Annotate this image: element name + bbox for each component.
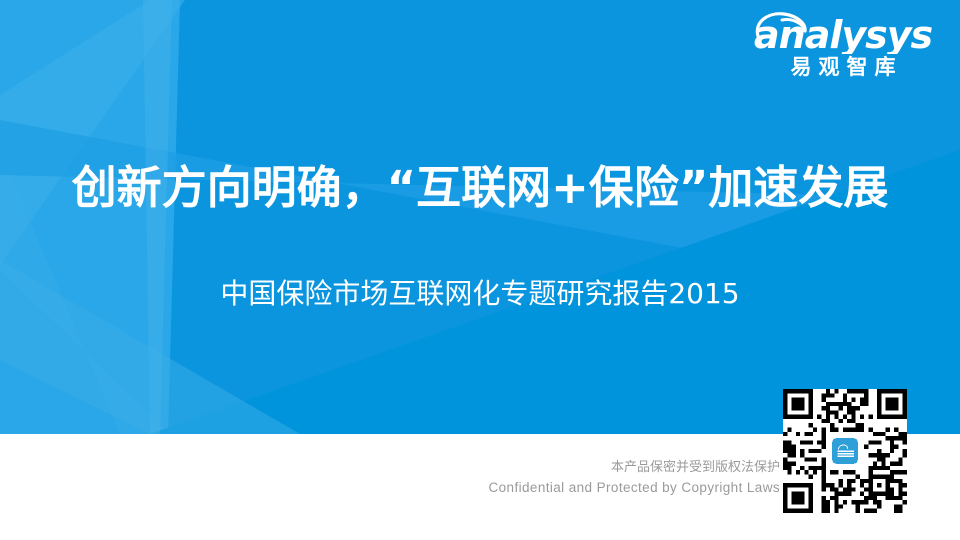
- page-title: 创新方向明确，“互联网+保险”加速发展: [0, 151, 960, 216]
- copyright-chinese: 本产品保密并受到版权法保护: [260, 458, 780, 478]
- blue-banner: analysys 易观智库 创新方向明确，“互联网+保险”加速发展 中国保险市场…: [0, 0, 960, 434]
- page-subtitle: 中国保险市场互联网化专题研究报告2015: [0, 272, 960, 312]
- copyright-english: Confidential and Protected by Copyright …: [260, 478, 780, 499]
- analysys-logo: analysys 易观智库: [748, 8, 938, 78]
- analysys-wordmark-icon: analysys: [748, 8, 938, 54]
- analysys-logo-cn-label: 易观智库: [748, 57, 938, 78]
- svg-text:analysys: analysys: [754, 13, 933, 54]
- title-slide: analysys 易观智库 创新方向明确，“互联网+保险”加速发展 中国保险市场…: [0, 0, 960, 540]
- qr-center-logo-icon: [830, 436, 860, 466]
- qr-code[interactable]: [783, 389, 907, 513]
- copyright-notice: 本产品保密并受到版权法保护 Confidential and Protected…: [260, 458, 780, 499]
